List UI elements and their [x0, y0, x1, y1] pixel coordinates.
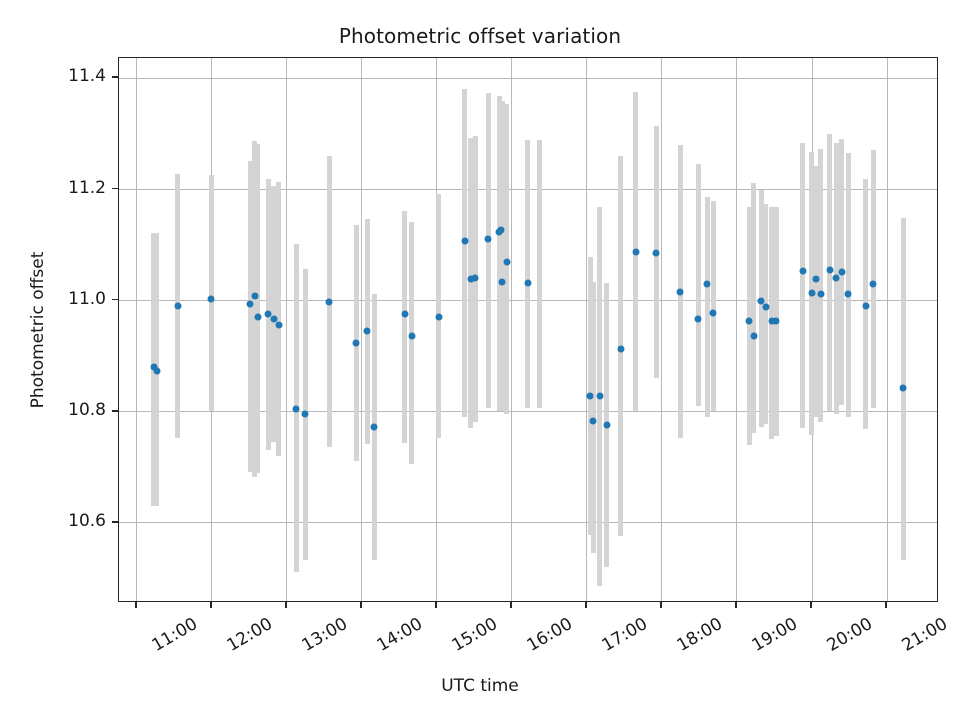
x-tick-mark — [435, 602, 436, 608]
data-point — [364, 328, 371, 335]
data-point — [817, 291, 824, 298]
data-point — [632, 248, 639, 255]
error-bar — [537, 140, 542, 409]
data-point — [153, 368, 160, 375]
data-point — [251, 292, 258, 299]
x-tick-label: 21:00 — [899, 614, 951, 656]
data-point — [371, 423, 378, 430]
gridline-vertical — [887, 58, 888, 601]
data-point — [587, 392, 594, 399]
data-point — [746, 318, 753, 325]
data-point — [799, 268, 806, 275]
gridline-vertical — [136, 58, 137, 601]
error-bar — [751, 183, 756, 433]
error-bar — [525, 140, 530, 409]
y-tick-label: 10.6 — [68, 511, 106, 531]
gridline-vertical — [361, 58, 362, 601]
x-tick-label: 15:00 — [449, 614, 501, 656]
data-point — [838, 268, 845, 275]
error-bar — [763, 204, 768, 424]
gridline-horizontal — [119, 522, 937, 523]
x-tick-label: 18:00 — [674, 614, 726, 656]
data-point — [653, 249, 660, 256]
error-bar — [255, 144, 260, 474]
error-bar — [711, 201, 716, 411]
x-tick-mark — [210, 602, 211, 608]
y-tick-mark — [112, 188, 118, 189]
data-point — [497, 227, 504, 234]
x-tick-label: 16:00 — [524, 614, 576, 656]
data-point — [472, 274, 479, 281]
y-tick-mark — [112, 521, 118, 522]
error-bar — [402, 211, 407, 444]
data-point — [617, 345, 624, 352]
data-point — [813, 275, 820, 282]
plot-area — [118, 57, 938, 602]
error-bar — [409, 222, 414, 464]
x-tick-mark — [810, 602, 811, 608]
data-point — [435, 313, 442, 320]
gridline-vertical — [661, 58, 662, 601]
x-tick-label: 19:00 — [749, 614, 801, 656]
error-bar — [696, 164, 701, 405]
data-point — [499, 279, 506, 286]
data-point — [302, 410, 309, 417]
data-point — [677, 289, 684, 296]
data-point — [603, 422, 610, 429]
data-point — [208, 295, 215, 302]
error-bar — [871, 150, 876, 409]
error-bar — [818, 149, 823, 423]
x-tick-label: 20:00 — [824, 614, 876, 656]
data-point — [485, 235, 492, 242]
data-point — [695, 315, 702, 322]
error-bar — [705, 197, 710, 417]
y-axis-label: Photometric offset — [28, 251, 48, 408]
gridline-horizontal — [119, 78, 937, 79]
figure: Photometric offset variation Photometric… — [0, 0, 960, 720]
data-point — [275, 321, 282, 328]
data-point — [900, 384, 907, 391]
data-point — [704, 281, 711, 288]
x-tick-label: 13:00 — [299, 614, 351, 656]
data-point — [247, 300, 254, 307]
y-tick-label: 11.4 — [68, 66, 106, 86]
x-tick-mark — [660, 602, 661, 608]
error-bar — [462, 89, 467, 417]
data-point — [862, 302, 869, 309]
x-tick-mark — [510, 602, 511, 608]
x-tick-mark — [885, 602, 886, 608]
data-point — [524, 279, 531, 286]
data-point — [762, 304, 769, 311]
data-point — [503, 259, 510, 266]
x-tick-mark — [285, 602, 286, 608]
data-point — [293, 405, 300, 412]
data-point — [590, 417, 597, 424]
y-tick-label: 11.2 — [68, 178, 106, 198]
y-tick-label: 11.0 — [68, 289, 106, 309]
data-point — [401, 311, 408, 318]
y-tick-mark — [112, 299, 118, 300]
error-bar — [846, 153, 851, 417]
x-tick-label: 11:00 — [149, 614, 201, 656]
error-bar — [209, 175, 214, 411]
y-tick-label: 10.8 — [68, 400, 106, 420]
data-point — [870, 281, 877, 288]
data-point — [461, 238, 468, 245]
data-point — [353, 340, 360, 347]
x-tick-mark — [135, 602, 136, 608]
x-tick-label: 12:00 — [224, 614, 276, 656]
error-bar — [800, 143, 805, 428]
data-point — [826, 267, 833, 274]
x-axis-label: UTC time — [0, 676, 960, 696]
data-layer — [119, 58, 937, 601]
gridline-vertical — [511, 58, 512, 601]
data-point — [710, 310, 717, 317]
data-point — [254, 314, 261, 321]
data-point — [408, 333, 415, 340]
y-tick-mark — [112, 410, 118, 411]
data-point — [773, 317, 780, 324]
data-point — [326, 298, 333, 305]
gridline-vertical — [286, 58, 287, 601]
x-tick-mark — [735, 602, 736, 608]
data-point — [833, 274, 840, 281]
x-tick-label: 17:00 — [599, 614, 651, 656]
error-bar — [276, 182, 281, 456]
data-point — [596, 393, 603, 400]
error-bar — [486, 93, 491, 408]
x-tick-mark — [360, 602, 361, 608]
data-point — [845, 291, 852, 298]
data-point — [750, 333, 757, 340]
gridline-vertical — [736, 58, 737, 601]
data-point — [174, 303, 181, 310]
x-tick-label: 14:00 — [374, 614, 426, 656]
x-tick-mark — [585, 602, 586, 608]
data-point — [808, 289, 815, 296]
y-tick-mark — [112, 76, 118, 77]
chart-title: Photometric offset variation — [0, 24, 960, 48]
